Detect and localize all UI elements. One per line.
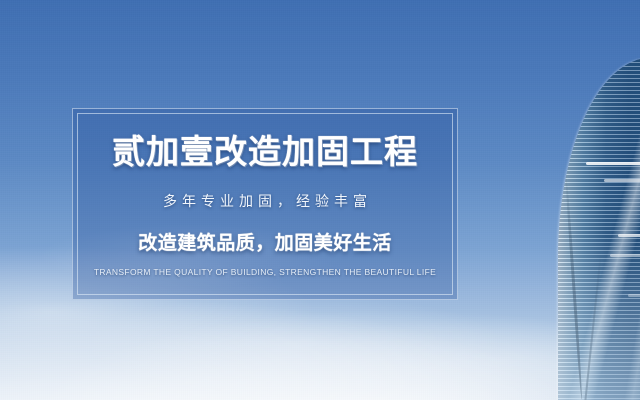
text-panel: 贰加壹改造加固工程 多年专业加固，经验丰富 改造建筑品质，加固美好生活 TRAN… [72, 108, 458, 300]
hero-banner: 贰加壹改造加固工程 多年专业加固，经验丰富 改造建筑品质，加固美好生活 TRAN… [0, 0, 640, 400]
page-title: 贰加壹改造加固工程 [112, 135, 418, 168]
skyscraper-haze-overlay [558, 58, 640, 400]
slogan-english: TRANSFORM THE QUALITY OF BUILDING, STREN… [94, 267, 436, 277]
slogan: 改造建筑品质，加固美好生活 [138, 228, 392, 255]
skyscraper-image [520, 58, 640, 400]
skyscraper-tower [558, 58, 640, 400]
subtitle: 多年专业加固，经验丰富 [158, 191, 372, 211]
panel-content: 贰加壹改造加固工程 多年专业加固，经验丰富 改造建筑品质，加固美好生活 TRAN… [73, 109, 457, 299]
